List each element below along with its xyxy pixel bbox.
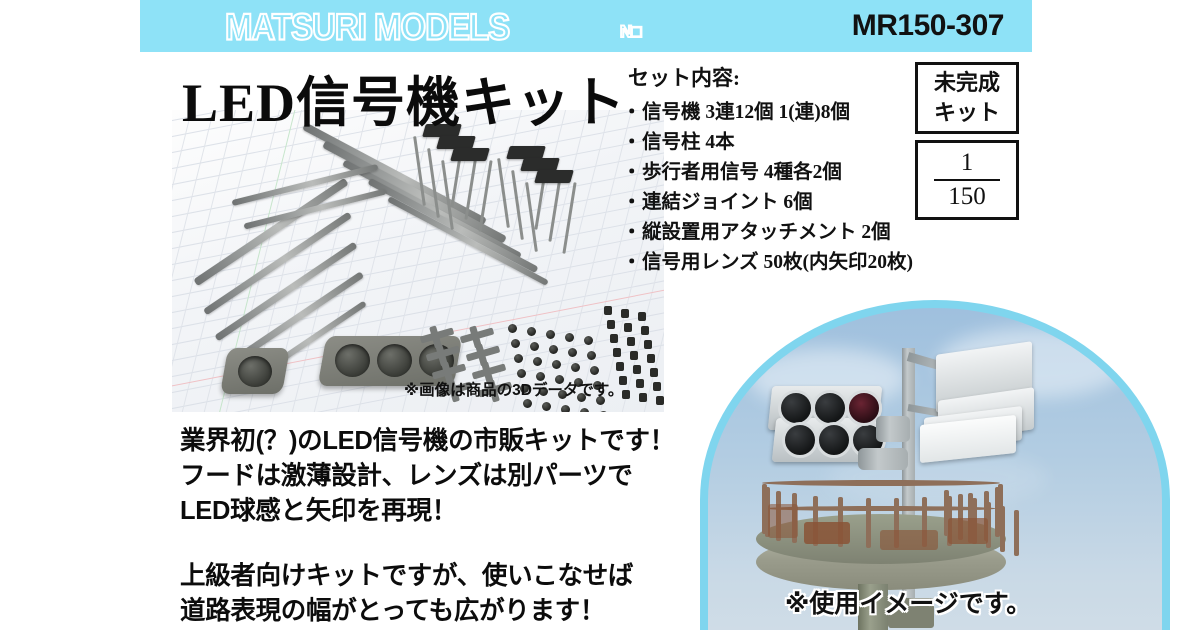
description-line: LED球感と矢印を再現！ — [180, 494, 675, 529]
scale-fraction-bar — [934, 179, 1000, 182]
usage-photo — [700, 300, 1170, 630]
scale-denominator: 150 — [948, 182, 986, 212]
description-text: 業界初(？)のLED信号機の市販キットです！ フードは激薄設計、レンズは別パーツ… — [180, 424, 675, 629]
header-banner: MATSURI MODELS N□ MR150-307 — [140, 0, 1032, 52]
scale-numerator: 1 — [961, 148, 974, 178]
product-code: MR150-307 — [852, 9, 1004, 43]
render-disclaimer: ※画像は商品の3Dデータです。 — [404, 378, 623, 400]
photo-image — [708, 308, 1162, 630]
description-line: 道路表現の幅がとっても広がります！ — [180, 594, 675, 629]
poster-root: MATSURI MODELS N□ MR150-307 LED信号機キット ※画… — [0, 0, 1200, 630]
badge-unfinished-line1: 未完成 — [934, 70, 1000, 95]
set-contents-heading: セット内容: — [628, 62, 913, 92]
brand-logo: MATSURI MODELS — [225, 6, 509, 49]
list-item: 信号用レンズ 50枚(内矢印20枚) — [628, 248, 913, 278]
description-line: 業界初(？)のLED信号機の市販キットです！ — [180, 424, 675, 459]
badge-unfinished-kit: 未完成 キット — [915, 62, 1019, 134]
set-contents-list: 信号機 3連12個 1(連)8個 信号柱 4本 歩行者用信号 4種各2個 連結ジ… — [628, 98, 913, 278]
set-contents: セット内容: 信号機 3連12個 1(連)8個 信号柱 4本 歩行者用信号 4種… — [628, 62, 913, 278]
list-item: 連結ジョイント 6個 — [628, 188, 913, 218]
description-line: 上級者向けキットですが、使いこなせば — [180, 559, 675, 594]
list-item: 縦設置用アタッチメント 2個 — [628, 218, 913, 248]
badge-unfinished-line2: キット — [934, 100, 1000, 125]
badge-scale: 1 150 — [915, 140, 1019, 220]
badge-unfinished-text: 未完成 キット — [934, 68, 1000, 128]
product-3d-render — [172, 110, 664, 412]
page-title: LED信号機キット — [182, 58, 626, 137]
brand-logo-subscript: N□ — [620, 22, 641, 42]
list-item: 信号機 3連12個 1(連)8個 — [628, 98, 913, 128]
list-item: 歩行者用信号 4種各2個 — [628, 158, 913, 188]
photo-caption: ※使用イメージです。 — [785, 584, 1031, 620]
list-item: 信号柱 4本 — [628, 128, 913, 158]
description-line: フードは激薄設計、レンズは別パーツで — [180, 459, 675, 494]
